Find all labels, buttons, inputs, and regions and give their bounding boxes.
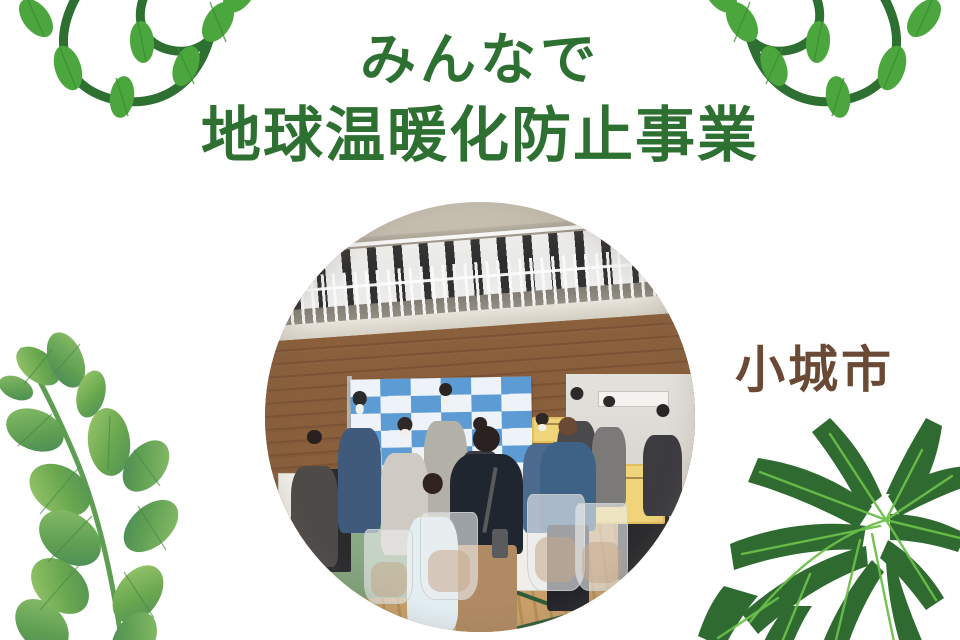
person-head <box>439 383 453 397</box>
person-body <box>643 435 682 515</box>
child-head <box>422 473 443 494</box>
person-body <box>291 466 338 568</box>
person-body <box>338 428 381 533</box>
event-photo-scene <box>265 202 695 632</box>
person-figure <box>592 396 626 508</box>
person-head <box>559 417 578 436</box>
person-figure <box>291 430 338 568</box>
eucalyptus-branch-bottom-left-icon <box>0 314 244 640</box>
poster-title: みんなで 地球温暖化防止事業 <box>0 28 960 173</box>
person-figure <box>643 404 682 516</box>
plastic-bag <box>420 512 478 600</box>
bag-contents <box>428 550 470 591</box>
bag-contents <box>582 542 621 583</box>
face-mask <box>442 396 450 405</box>
bag-contents <box>371 562 407 597</box>
person-head <box>603 396 615 408</box>
plastic-bag <box>575 503 629 591</box>
person-figure <box>338 391 381 533</box>
monstera-leaf-bottom-right-icon <box>690 410 960 640</box>
event-photo-circle <box>265 202 695 632</box>
face-mask <box>355 404 364 414</box>
shoulder-bag <box>492 529 508 558</box>
city-name-label: 小城市 <box>735 330 894 402</box>
bag-contents <box>535 537 577 582</box>
poster-canvas: みんなで 地球温暖化防止事業 小城市 <box>0 0 960 640</box>
person-head <box>473 426 499 452</box>
person-head <box>570 387 583 400</box>
plastic-bag <box>364 529 413 604</box>
person-body <box>592 427 626 507</box>
title-line-2: 地球温暖化防止事業 <box>0 100 960 173</box>
title-line-1: みんなで <box>0 28 960 94</box>
face-mask <box>400 429 409 437</box>
person-head <box>656 404 669 417</box>
person-head <box>307 430 321 444</box>
